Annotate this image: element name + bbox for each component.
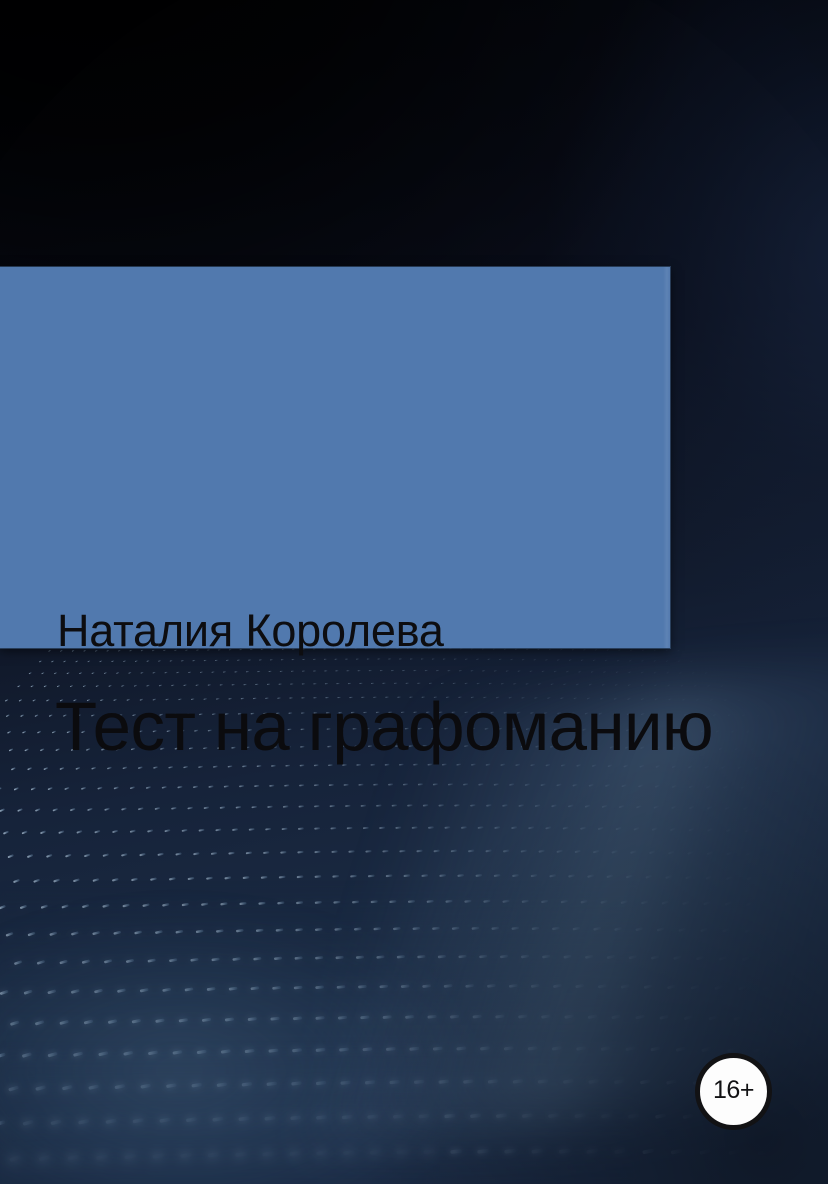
title-panel: Наталия Королева Тест на графоманию xyxy=(0,267,670,648)
author-name: Наталия Королева xyxy=(57,607,444,654)
age-rating-badge: 16+ xyxy=(695,1053,772,1130)
book-title: Тест на графоманию xyxy=(55,691,713,763)
book-cover: Наталия Королева Тест на графоманию 16+ xyxy=(0,0,828,1184)
age-rating-label: 16+ xyxy=(713,1078,754,1103)
